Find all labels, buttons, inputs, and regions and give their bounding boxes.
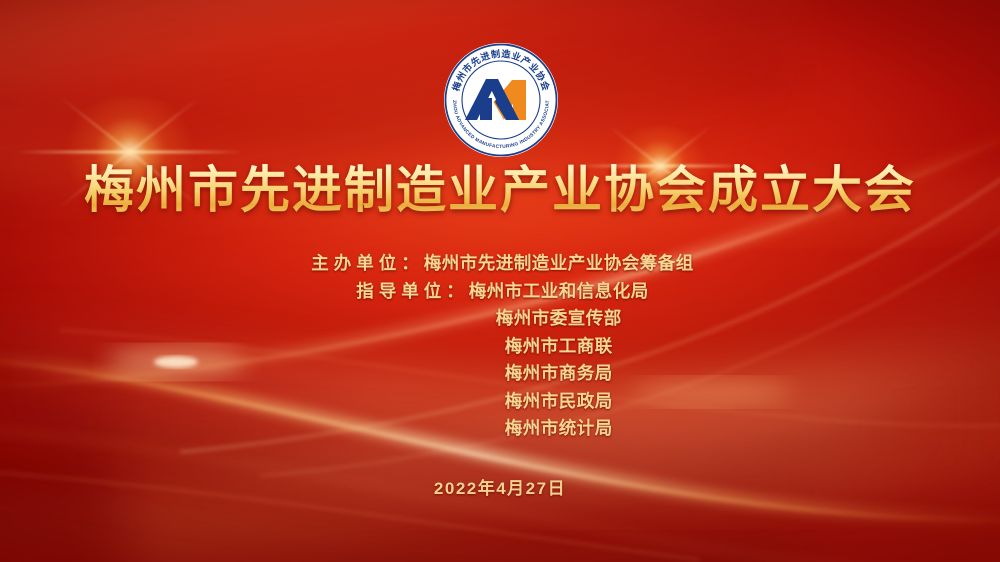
- page-title: 梅州市先进制造业产业协会成立大会: [0, 160, 1000, 221]
- credit-row-guidance-6: 指导单位：梅州市统计局: [0, 415, 1000, 443]
- credit-row-guidance-3: 指导单位：梅州市工商联: [0, 333, 1000, 361]
- credit-value-host: 梅州市先进制造业产业协会筹备组: [424, 250, 694, 278]
- credit-value-guidance-4: 梅州市商务局: [505, 360, 613, 388]
- credit-row-host: 主办单位：梅州市先进制造业产业协会筹备组: [0, 250, 1000, 278]
- credit-value-guidance-6: 梅州市统计局: [505, 415, 613, 443]
- credit-value-guidance-2: 梅州市委宣传部: [496, 305, 622, 333]
- credit-value-guidance-1: 梅州市工业和信息化局: [469, 278, 649, 306]
- credit-label-host: 主办单位：: [306, 250, 424, 278]
- credit-value-guidance-3: 梅州市工商联: [505, 333, 613, 361]
- credit-value-guidance-5: 梅州市民政局: [505, 388, 613, 416]
- poster-canvas: 梅州市先进制造业产业协会 MEIZHOU ADVANCED MANUFACTUR…: [0, 0, 1000, 562]
- event-date: 2022年4月27日: [0, 474, 1000, 499]
- credit-row-guidance-4: 指导单位：梅州市商务局: [0, 360, 1000, 388]
- credit-label-guidance: 指导单位：: [351, 278, 469, 306]
- credit-row-guidance: 指导单位：梅州市工业和信息化局: [0, 278, 1000, 306]
- credit-row-guidance-5: 指导单位：梅州市民政局: [0, 388, 1000, 416]
- credits-block: 主办单位：梅州市先进制造业产业协会筹备组 指导单位：梅州市工业和信息化局 指导单…: [0, 250, 1000, 443]
- association-logo: 梅州市先进制造业产业协会 MEIZHOU ADVANCED MANUFACTUR…: [443, 42, 559, 158]
- credit-row-guidance-2: 指导单位：梅州市委宣传部: [0, 305, 1000, 333]
